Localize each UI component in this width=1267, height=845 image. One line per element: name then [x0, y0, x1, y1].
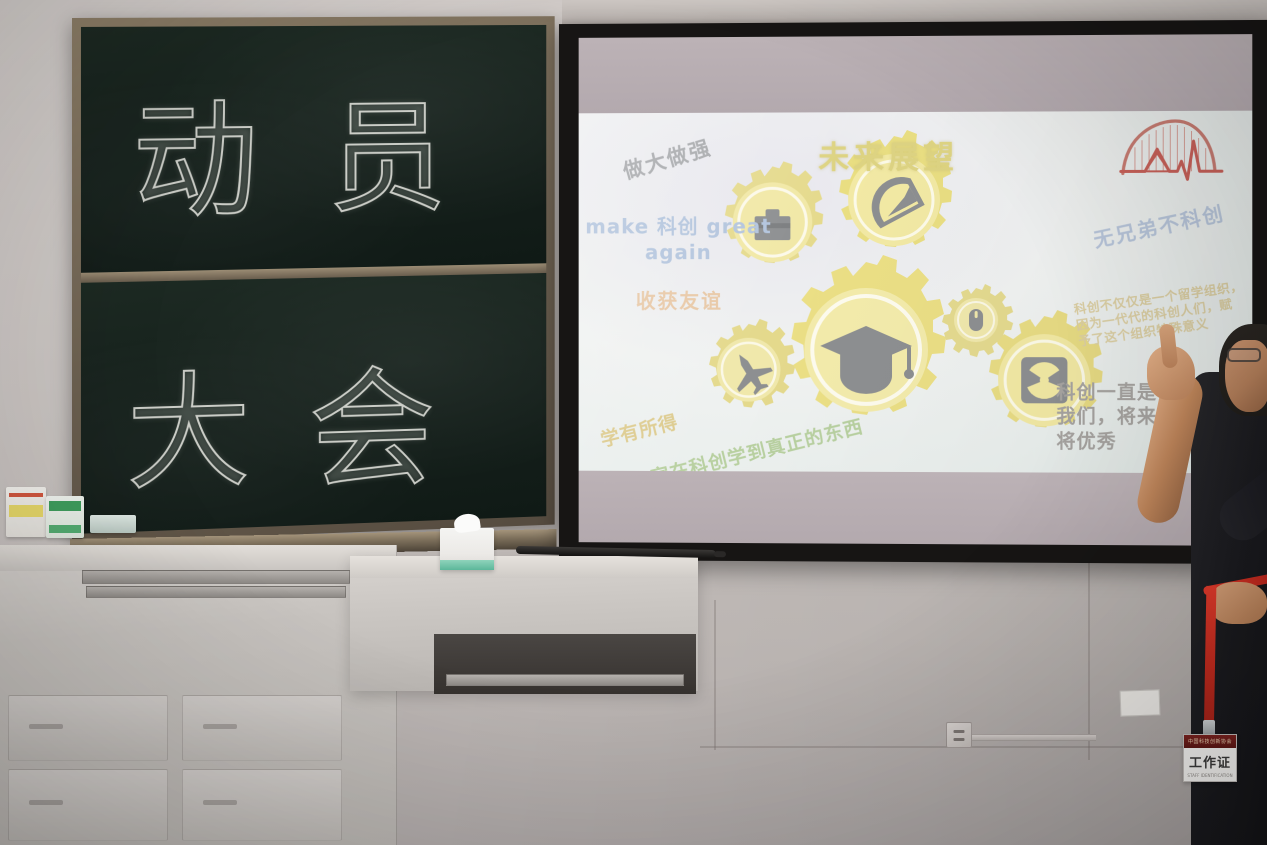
glasses-icon	[1227, 348, 1261, 362]
chalk-char-da: 大	[127, 331, 251, 515]
cabinet-drawer-handle[interactable]	[29, 724, 63, 729]
presenter-lower-hand	[1211, 582, 1267, 624]
staff-badge: 中国科技创新协会 工作证 STAFF IDENTIFICATION	[1183, 734, 1237, 782]
bridge-pulse-logo-icon	[1119, 119, 1224, 182]
badge-header-text: 中国科技创新协会	[1184, 735, 1236, 748]
chalk-box-green	[46, 496, 84, 538]
badge-footer-text: STAFF IDENTIFICATION	[1184, 773, 1236, 778]
chalk-box-flat	[90, 515, 136, 533]
cabinet-drawer[interactable]	[8, 695, 168, 761]
cabinet-drawer[interactable]	[8, 769, 168, 841]
wall-conduit	[968, 734, 1096, 741]
power-outlet-icon[interactable]	[946, 722, 972, 748]
keyboard-tray-rail[interactable]	[446, 674, 684, 686]
chalk-char-yuan: 员	[328, 59, 447, 237]
presenter-index-finger	[1159, 323, 1179, 368]
chalk-char-dong: 动	[133, 58, 259, 243]
classroom-scene: 动 员 大 会	[0, 0, 1267, 845]
slide-annotation-youyi: 收获友谊	[636, 289, 723, 314]
cabinet-drawer[interactable]	[182, 769, 342, 841]
cabinet-drawer-handle[interactable]	[29, 800, 63, 805]
chalk-box-yellow	[6, 487, 46, 537]
blackboard-panel-bottom: 大 会	[81, 273, 546, 534]
badge-header-band: 中国科技创新协会	[1184, 735, 1236, 748]
wall-seam-vertical-2	[714, 600, 716, 750]
tissue-box	[440, 528, 494, 570]
podium-desk	[350, 556, 698, 691]
lectern-slide-rail[interactable]	[82, 570, 350, 584]
wall-seam-vertical	[1088, 560, 1090, 760]
presenter-person: 中国科技创新协会 工作证 STAFF IDENTIFICATION	[1115, 296, 1267, 845]
podium-desk-top	[350, 556, 698, 578]
tissue-box-base	[440, 560, 494, 570]
cabinet-drawer[interactable]	[182, 695, 342, 761]
slide-annotation-make-great-again: make 科创 great again	[585, 214, 773, 265]
lectern-cabinet-top	[0, 545, 396, 571]
lectern-slide-rail-2[interactable]	[86, 586, 346, 598]
blackboard: 动 员 大 会	[72, 18, 572, 543]
cabinet-drawer-handle[interactable]	[203, 724, 237, 729]
badge-title-text: 工作证	[1184, 752, 1236, 771]
blackboard-frame: 动 员 大 会	[72, 16, 555, 543]
blackboard-panel-top: 动 员	[81, 25, 546, 273]
chalk-char-hui: 会	[309, 324, 435, 515]
cabinet-drawer-handle[interactable]	[203, 800, 237, 805]
projection-letterbox-top	[579, 34, 1253, 113]
slide-title: 未来展望	[818, 132, 958, 177]
